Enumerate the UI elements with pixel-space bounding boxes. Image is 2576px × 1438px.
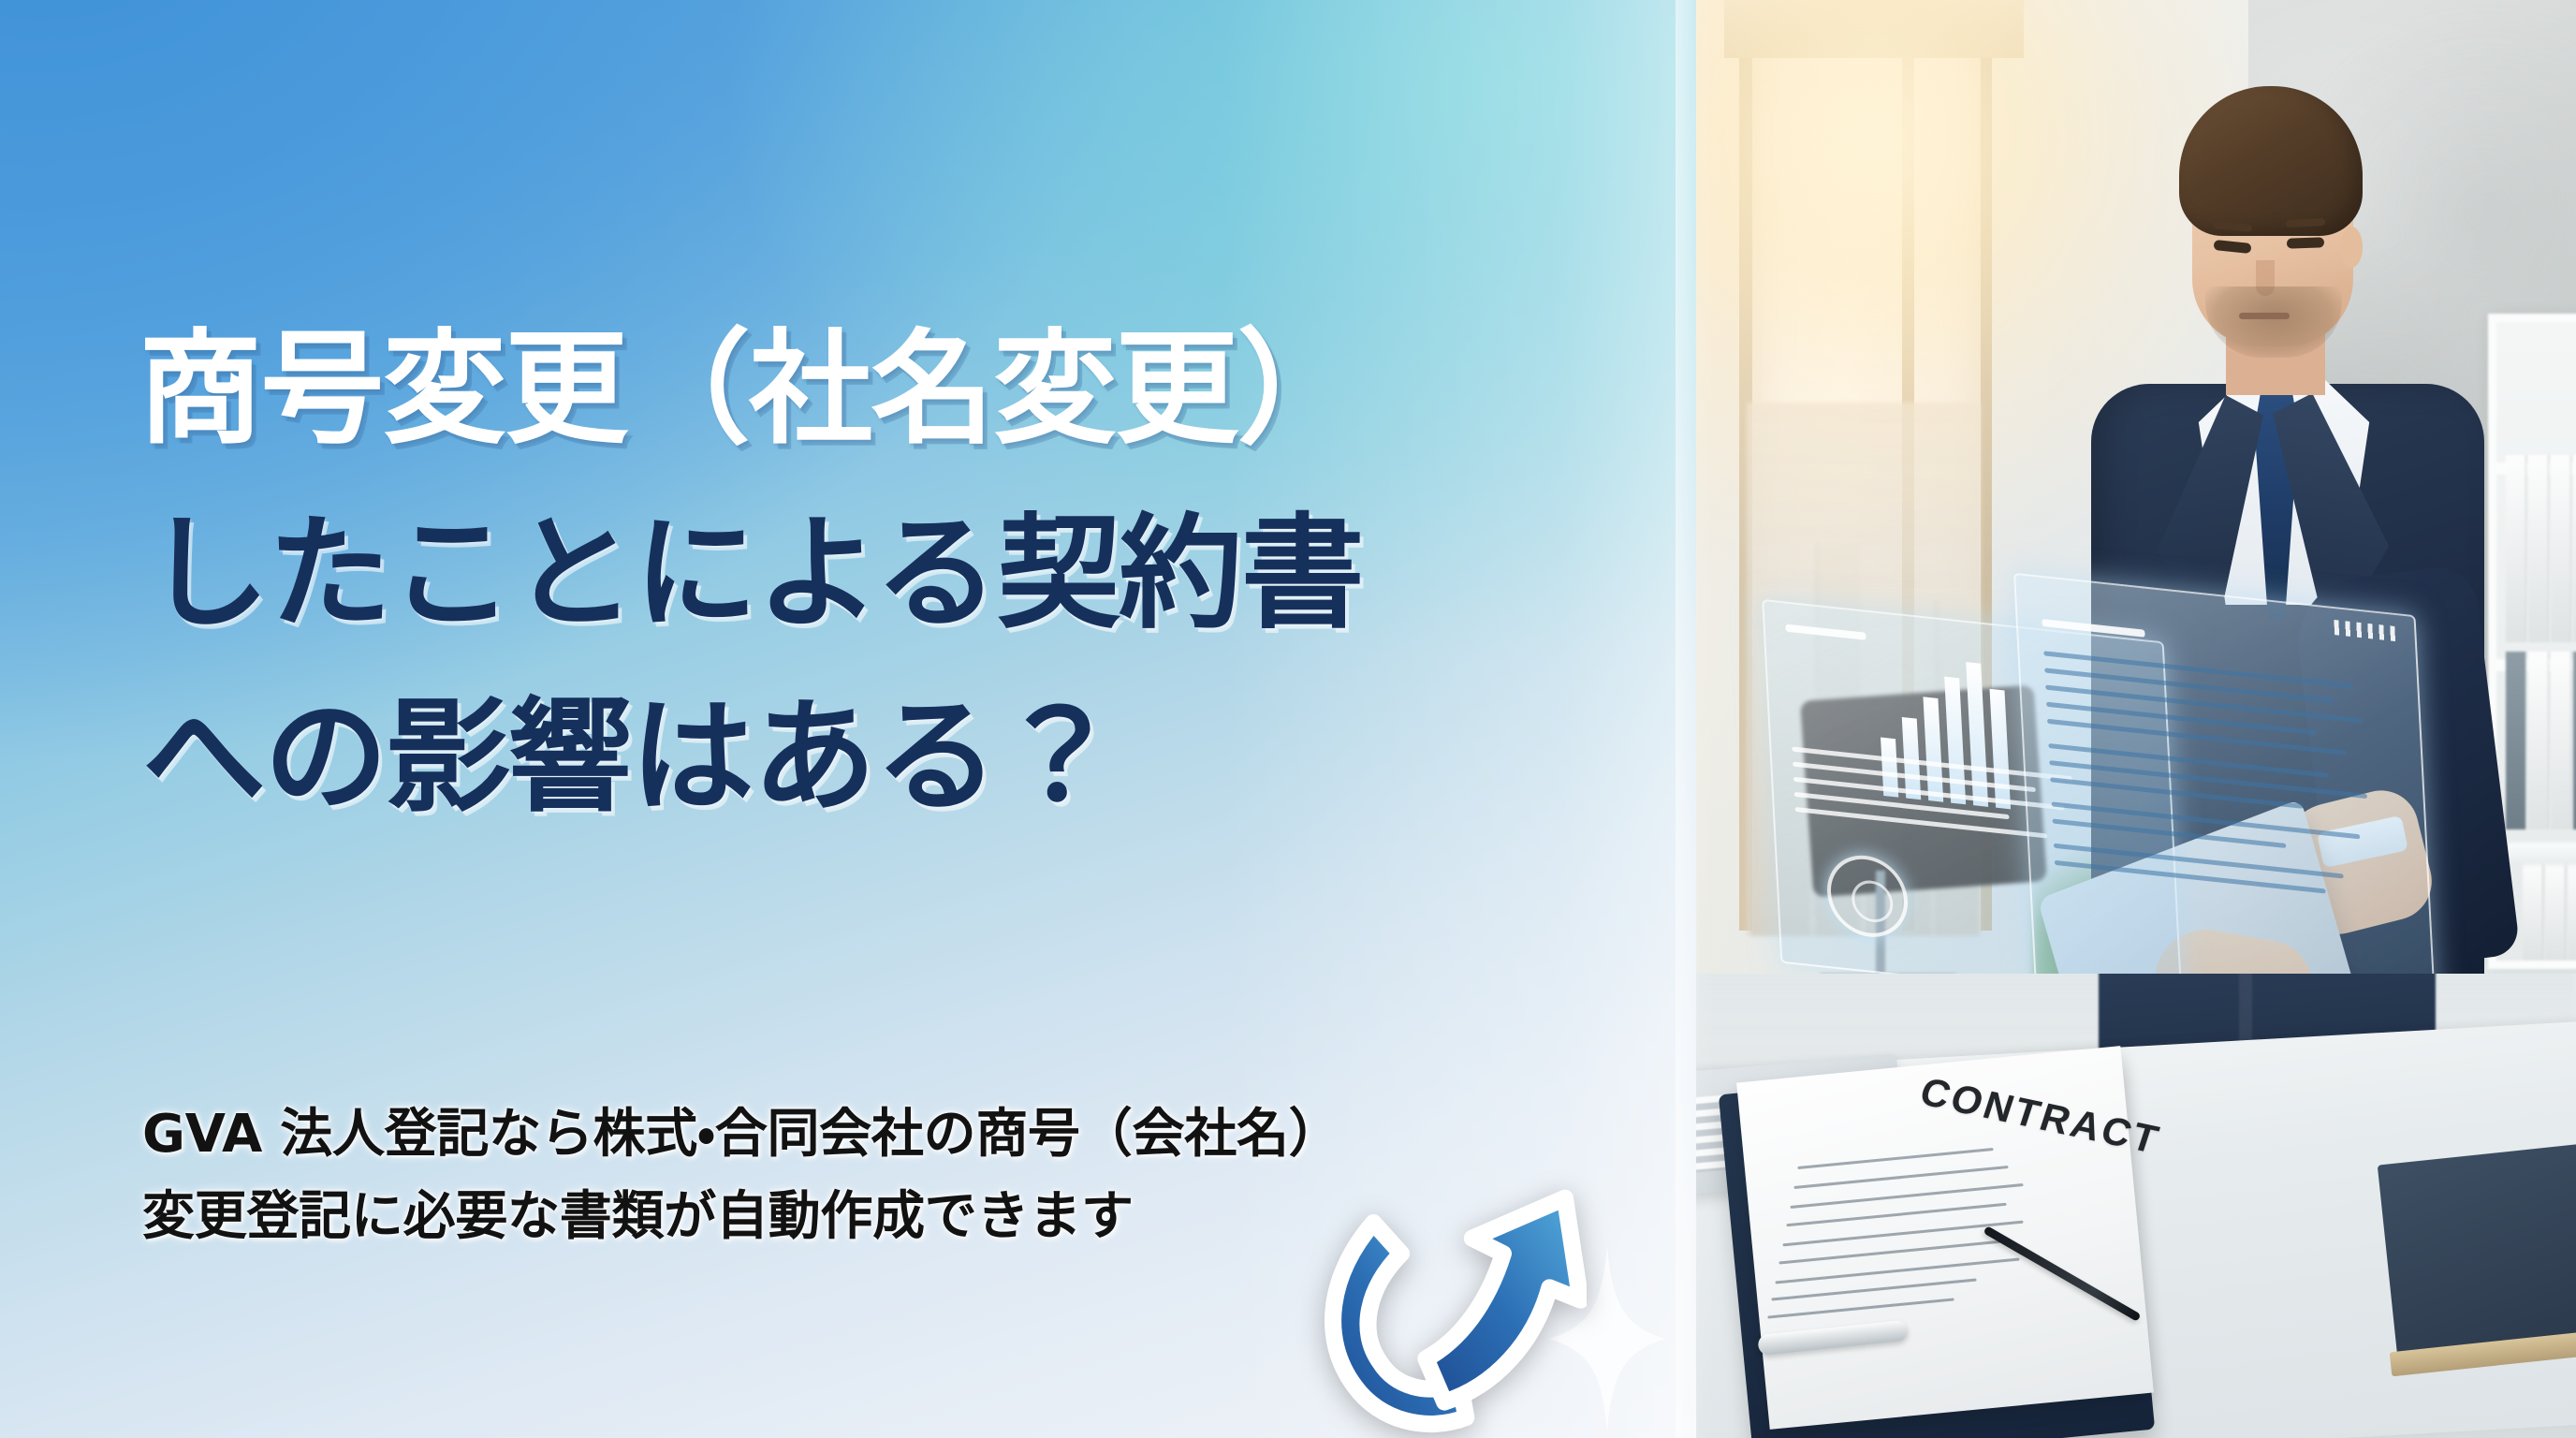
page-title: 商号変更（社名変更） したことによる契約書 への影響はある？ [139,298,1636,850]
hero-photo: CONTRACT [1696,0,2576,1438]
desk-scene: CONTRACT [1696,974,2576,1438]
subtitle-line-1: GVA 法人登記なら株式・合同会社の商号（会社名） [142,1093,1340,1176]
hair [2179,86,2363,236]
eye-right [2287,237,2324,248]
headline-line-3: への影響はある？ [142,666,1636,850]
subtitle-block: GVA 法人登記なら株式・合同会社の商号（会社名） 変更登記に必要な書類が自動作… [142,1093,1340,1259]
subtitle-line-2: 変更登記に必要な書類が自動作成できます [142,1176,1340,1258]
holographic-document-panel [2013,573,2437,974]
closed-book [2378,1138,2576,1360]
office-scene [1696,0,2576,974]
fingerprint-icon [1825,851,1910,941]
mouth [2239,313,2290,319]
headline-line-1: 商号変更（社名変更） [139,298,1636,482]
headline-line-2: したことによる契約書 [146,482,1636,667]
ear [2340,227,2363,268]
panel-indicator-dots [2334,620,2400,642]
hero-banner: 商号変更（社名変更） したことによる契約書 への影響はある？ GVA 法人登記な… [0,0,2576,1438]
curved-up-right-arrow-icon [1278,1170,1587,1438]
